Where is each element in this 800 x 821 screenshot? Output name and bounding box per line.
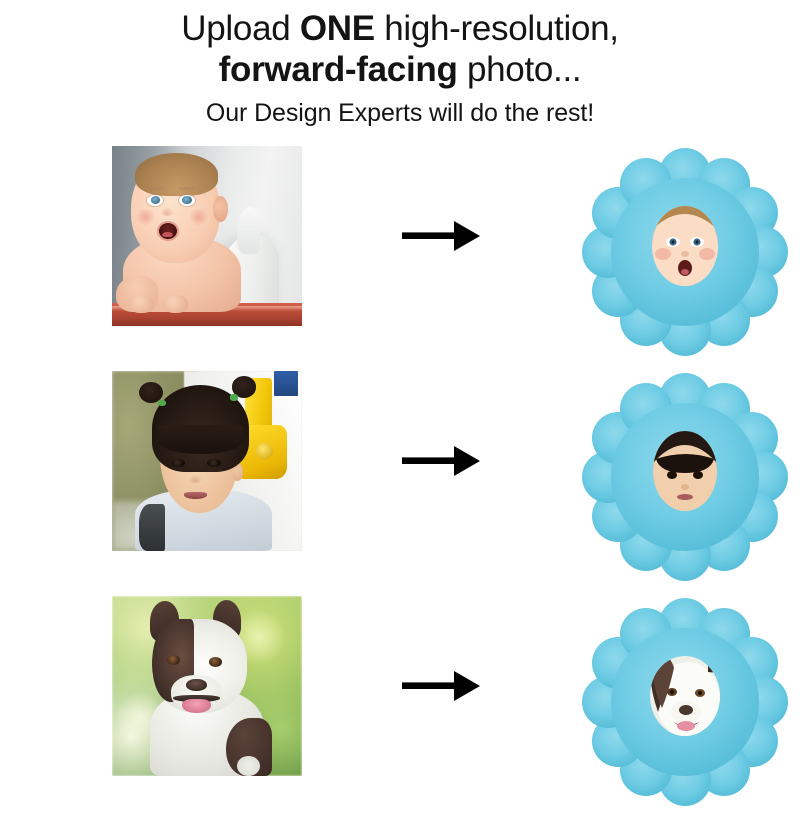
baby-nose: [160, 207, 173, 216]
hair-tie-right: [230, 394, 239, 400]
french-bulldog-photo: [112, 596, 302, 776]
dog-tongue: [182, 699, 211, 713]
blue-sign: [274, 371, 299, 396]
arrow-container: [302, 371, 580, 551]
baby-hand-right: [163, 295, 188, 313]
photo-frame: [112, 146, 302, 326]
baby-ear: [213, 196, 228, 221]
baby-iris-right: [182, 196, 192, 204]
hair-tie-left: [158, 400, 167, 406]
arrow-right-icon: [402, 669, 480, 703]
baby-hand-left: [129, 295, 154, 313]
flower-cutout-graphic: [580, 596, 790, 808]
arrow-right-icon: [402, 219, 480, 253]
transformation-examples: [0, 146, 800, 821]
headline-emphasis-forward-facing: forward-facing: [219, 50, 458, 89]
arrow-container: [302, 146, 580, 326]
flower-cutout-dog: [580, 596, 790, 808]
photo-frame: [112, 371, 302, 551]
flower-cutout-graphic: [580, 371, 790, 583]
photo-frame: [112, 596, 302, 776]
headline-text-upload: Upload: [181, 9, 300, 48]
headline-line-1: Upload ONE high-resolution,: [181, 9, 618, 48]
shirt-shadow: [139, 504, 166, 551]
page-subtitle: Our Design Experts will do the rest!: [0, 99, 800, 128]
high-chair-back: [237, 207, 260, 254]
example-row: [0, 371, 800, 596]
headline-emphasis-one: ONE: [300, 9, 375, 48]
example-row: [0, 146, 800, 371]
flower-cutout-baby: [580, 146, 790, 358]
girl-bangs: [158, 425, 244, 454]
toddler-girl-photo: [112, 371, 302, 551]
header: Upload ONE high-resolution, forward-faci…: [0, 0, 800, 128]
example-row: [0, 596, 800, 821]
surprised-baby-photo: [112, 146, 302, 326]
baby-cheek-left: [135, 209, 156, 225]
page-title: Upload ONE high-resolution, forward-faci…: [0, 8, 800, 90]
headline-line-2: forward-facing photo...: [219, 50, 582, 89]
baby-cheek-right: [188, 209, 209, 225]
arrow-right-icon: [402, 444, 480, 478]
baby-tongue: [162, 232, 172, 238]
headline-text-photo: photo...: [458, 50, 582, 89]
headline-text-highres: high-resolution,: [375, 9, 619, 48]
baby-hair: [135, 153, 219, 196]
flower-cutout-girl: [580, 371, 790, 583]
arrow-container: [302, 596, 580, 776]
flower-cutout-graphic: [580, 146, 790, 358]
